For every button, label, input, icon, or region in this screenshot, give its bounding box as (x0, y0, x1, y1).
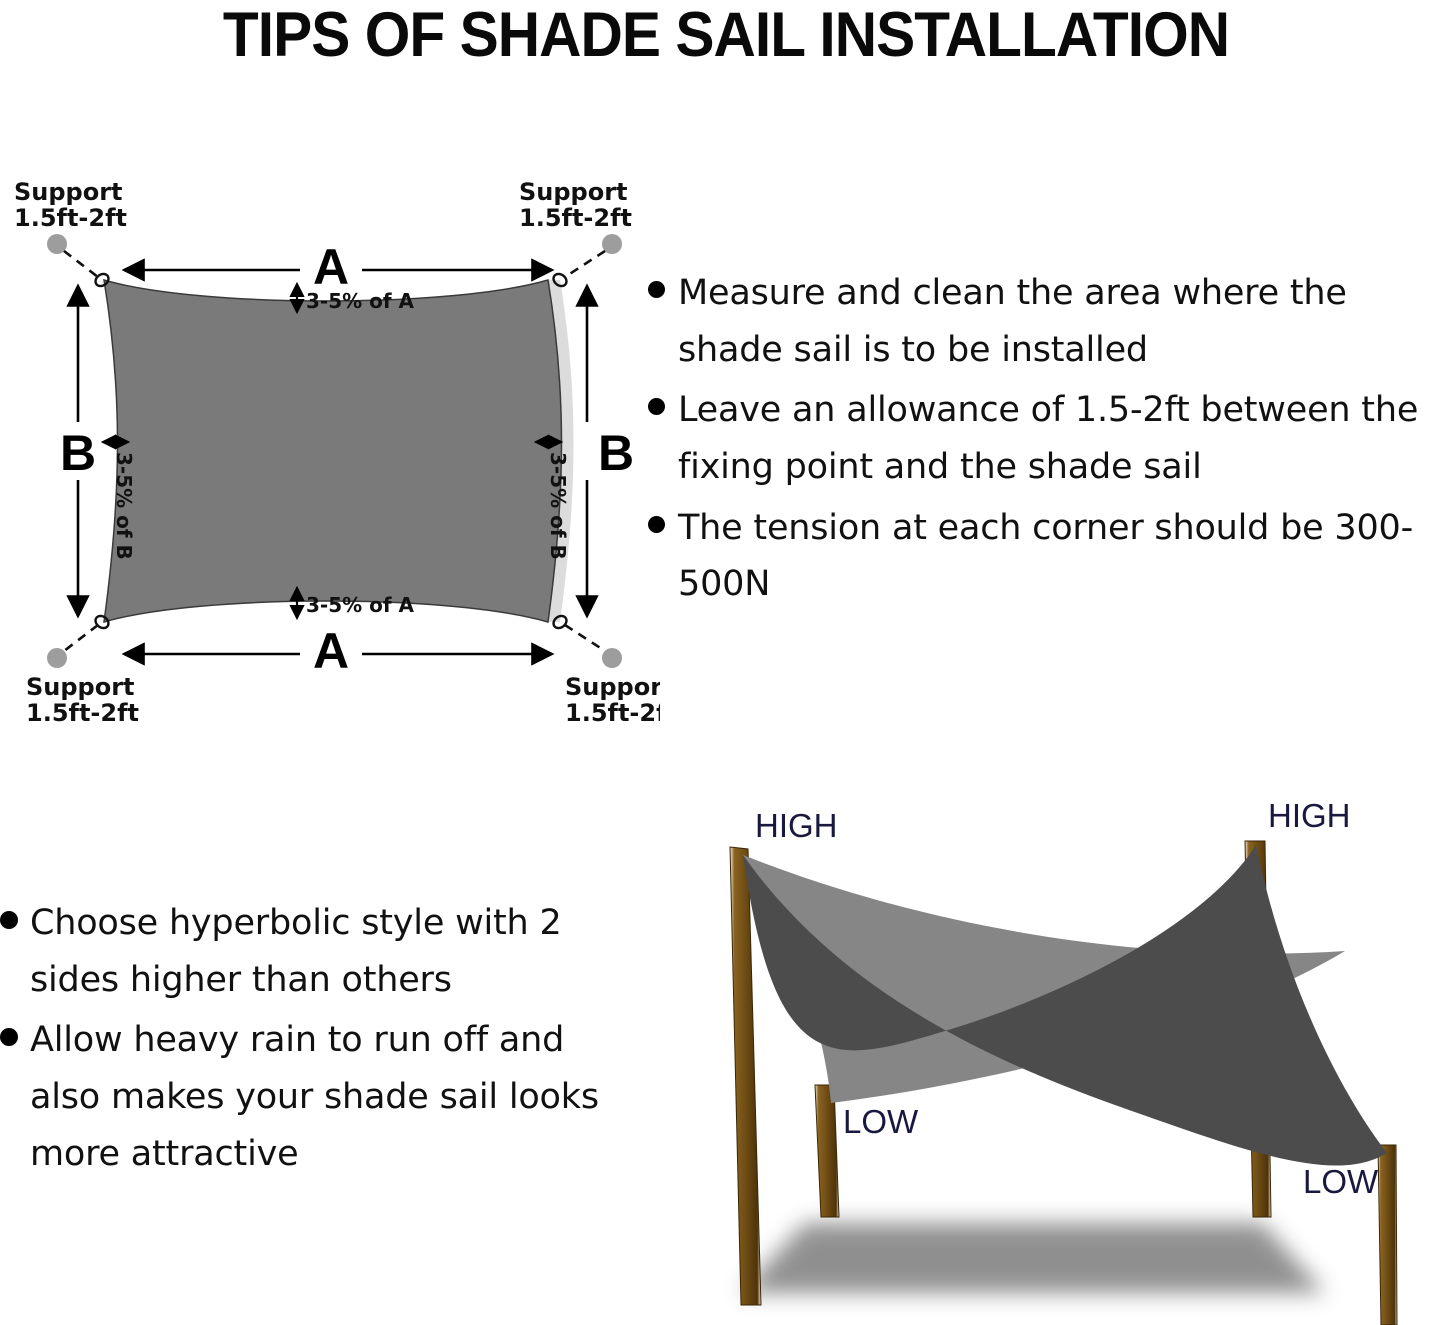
list-item: Measure and clean the area where the sha… (648, 265, 1452, 378)
list-item: Choose hyperbolic style with 2 sides hig… (0, 895, 625, 1008)
support-bottom-left-value: 1.5ft-2ft (26, 699, 139, 727)
curve-depth-right-label: 3-5% of B (546, 452, 570, 560)
support-top-left-value: 1.5ft-2ft (14, 204, 127, 232)
dimension-a-top-label: A (313, 239, 349, 295)
support-top-right: Support 1.5ft-2ft (519, 178, 632, 289)
bullet-dot-icon (0, 1028, 18, 1046)
support-top-right-title: Support (519, 178, 628, 206)
tip-text: Leave an allowance of 1.5-2ft between th… (678, 382, 1452, 495)
label-low-right: LOW (1303, 1163, 1379, 1200)
label-high-left: HIGH (755, 807, 838, 844)
hyperbolic-sail-illustration: HIGH HIGH LOW LOW (645, 785, 1452, 1325)
support-bottom-right-title: Support (565, 673, 660, 701)
support-dot-bottom-right (602, 648, 622, 668)
ground-shadow (740, 1223, 1325, 1293)
installation-tips-list: Measure and clean the area where the sha… (648, 265, 1452, 617)
dimension-b-right-label: B (598, 425, 634, 481)
dimension-b-left-label: B (60, 425, 96, 481)
support-top-right-value: 1.5ft-2ft (519, 204, 632, 232)
shade-sail-body (104, 280, 562, 622)
support-line-bottom-left (64, 625, 98, 651)
tip-text: Allow heavy rain to run off and also mak… (30, 1012, 625, 1182)
dimension-a-top: A (124, 239, 552, 295)
pole-low-right (1378, 1145, 1397, 1325)
dimension-a-bottom: A (124, 623, 552, 679)
support-line-top-right (565, 251, 605, 277)
tip-text: The tension at each corner should be 300… (678, 500, 1452, 613)
label-high-right: HIGH (1268, 797, 1351, 834)
curve-depth-bottom: 3-5% of A (297, 588, 415, 618)
list-item: Leave an allowance of 1.5-2ft between th… (648, 382, 1452, 495)
rectangular-sail-diagram: Support 1.5ft-2ft Support 1.5ft-2ft Supp… (0, 160, 660, 740)
tip-text: Choose hyperbolic style with 2 sides hig… (30, 895, 625, 1008)
list-item: Allow heavy rain to run off and also mak… (0, 1012, 625, 1182)
support-top-left: Support 1.5ft-2ft (14, 178, 127, 289)
bullet-dot-icon (648, 281, 665, 298)
support-bottom-right: Support 1.5ft-2ft (551, 613, 660, 727)
curve-depth-left-label: 3-5% of B (112, 452, 136, 560)
curve-depth-top: 3-5% of A (297, 284, 415, 313)
label-low-left: LOW (843, 1103, 919, 1140)
page-title: TIPS OF SHADE SAIL INSTALLATION (223, 4, 1229, 67)
support-top-left-title: Support (14, 178, 123, 206)
title-bar: TIPS OF SHADE SAIL INSTALLATION (0, 0, 1452, 70)
support-bottom-left: Support 1.5ft-2ft (26, 613, 139, 727)
list-item: The tension at each corner should be 300… (648, 500, 1452, 613)
support-line-bottom-right (565, 625, 605, 651)
support-bottom-right-value: 1.5ft-2ft (565, 699, 660, 727)
tip-text: Measure and clean the area where the sha… (678, 265, 1452, 378)
curve-depth-top-label: 3-5% of A (306, 289, 415, 313)
dimension-a-bottom-label: A (313, 623, 349, 679)
support-dot-bottom-left (47, 648, 67, 668)
dimension-b-left: B (60, 286, 96, 616)
support-bottom-left-title: Support (26, 673, 135, 701)
bullet-dot-icon (0, 911, 18, 929)
dimension-b-right: B (587, 286, 634, 616)
bullet-dot-icon (648, 516, 665, 533)
bullet-dot-icon (648, 398, 665, 415)
curve-depth-left: 3-5% of B (103, 442, 136, 560)
hyperbolic-style-tips-list: Choose hyperbolic style with 2 sides hig… (0, 895, 625, 1186)
support-line-top-left (64, 251, 98, 277)
curve-depth-bottom-label: 3-5% of A (306, 593, 415, 617)
pole-low-left (815, 1085, 839, 1217)
